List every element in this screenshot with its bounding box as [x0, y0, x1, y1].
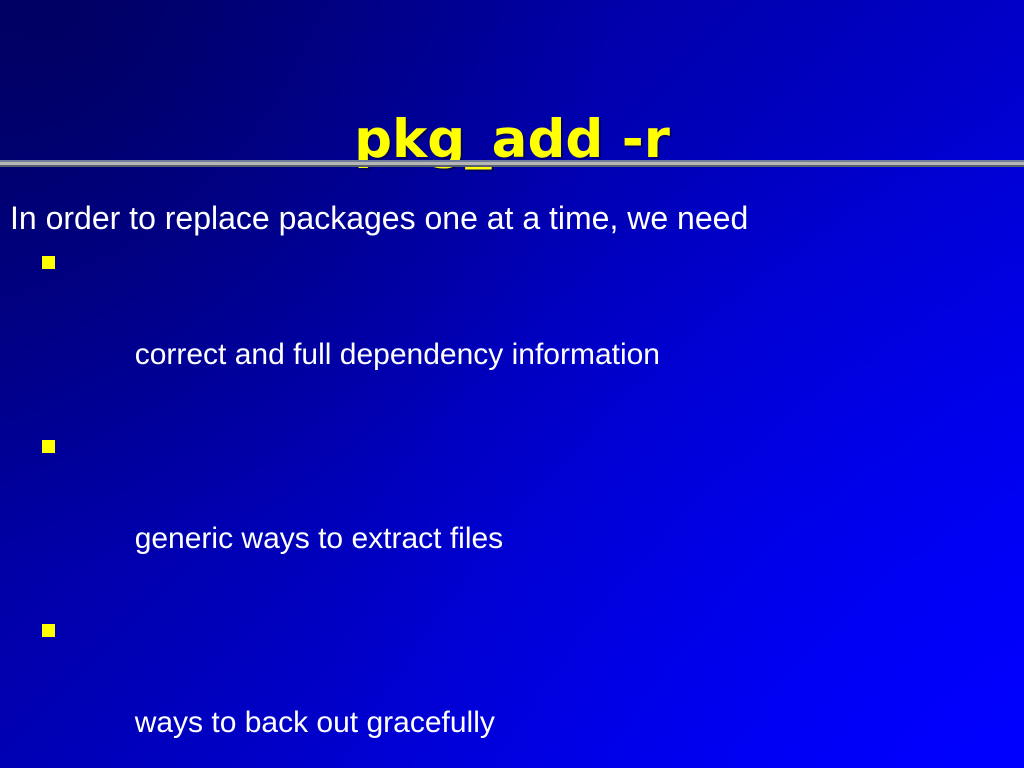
slide-body: In order to replace packages one at a ti…	[0, 196, 1024, 768]
lead-paragraph: In order to replace packages one at a ti…	[0, 196, 1024, 240]
presentation-slide: pkg_add -r In order to replace packages …	[0, 0, 1024, 768]
list-item-label: correct and full dependency information	[135, 338, 660, 371]
bullet-list: correct and full dependency information …	[0, 240, 1024, 768]
list-item: correct and full dependency information	[0, 240, 1024, 424]
list-item-label: ways to back out gracefully	[135, 706, 495, 739]
list-item-label: generic ways to extract files	[135, 522, 503, 555]
square-bullet-icon	[42, 440, 55, 453]
divider-shadow-row	[0, 165, 1024, 167]
slide-title-area: pkg_add -r	[0, 74, 1024, 205]
square-bullet-icon	[42, 256, 55, 269]
square-bullet-icon	[42, 624, 55, 637]
list-item: ways to back out gracefully	[0, 608, 1024, 768]
title-divider-rule	[0, 160, 1024, 167]
list-item: generic ways to extract files	[0, 424, 1024, 608]
